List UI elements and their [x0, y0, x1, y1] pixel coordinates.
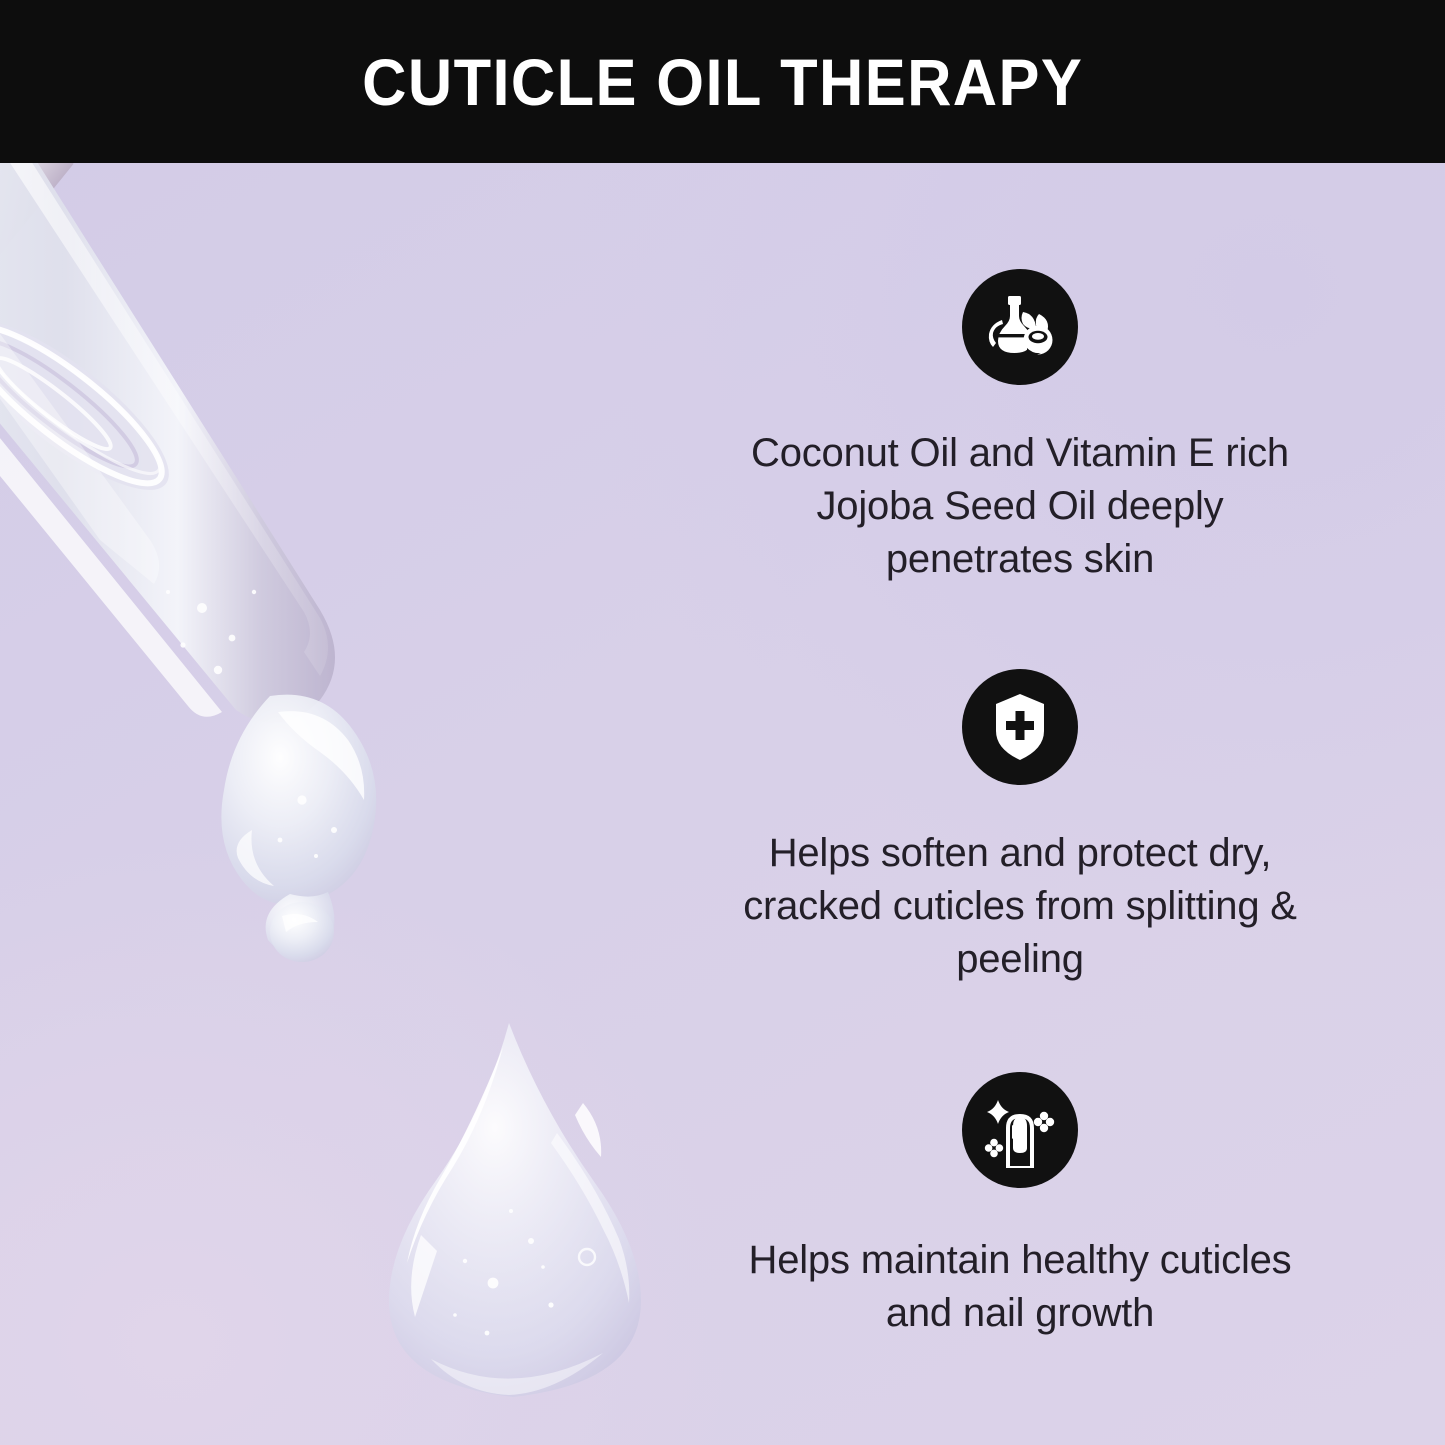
feature-text: Helps maintain healthy cuticles and nail… — [730, 1234, 1310, 1340]
shield-plus-icon — [962, 669, 1078, 785]
feature-text: Coconut Oil and Vitamin E rich Jojoba Se… — [730, 427, 1310, 587]
falling-oil-droplet — [345, 1015, 695, 1425]
sparkling-nail-icon — [962, 1072, 1078, 1188]
feature-item: Helps soften and protect dry, cracked cu… — [700, 669, 1340, 987]
oil-bottle-coconut-icon — [962, 269, 1078, 385]
feature-item: Coconut Oil and Vitamin E rich Jojoba Se… — [700, 269, 1340, 587]
feature-text: Helps soften and protect dry, cracked cu… — [730, 827, 1310, 987]
infographic-page: CUTICLE OIL THERAPY — [0, 0, 1445, 1445]
feature-item: Helps maintain healthy cuticles and nail… — [700, 1072, 1340, 1340]
page-title: CUTICLE OIL THERAPY — [362, 49, 1083, 115]
header-band: CUTICLE OIL THERAPY — [0, 0, 1445, 163]
features-column: Coconut Oil and Vitamin E rich Jojoba Se… — [700, 163, 1340, 1445]
